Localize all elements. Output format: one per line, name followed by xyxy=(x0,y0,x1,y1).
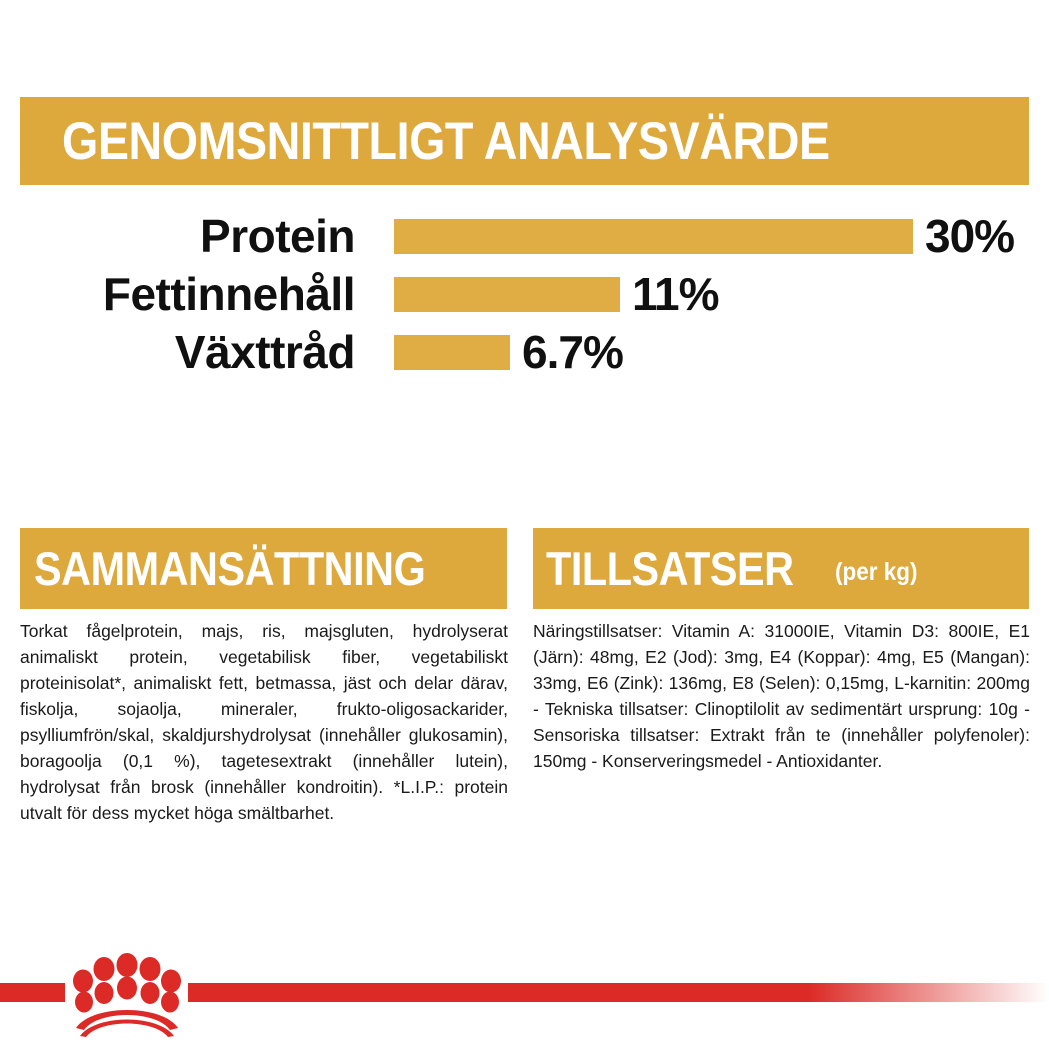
bar-fill-fat xyxy=(394,277,620,312)
red-band-left xyxy=(0,983,65,1002)
footer-brand-band xyxy=(0,975,1049,1005)
composition-banner-title: SAMMANSÄTTNING xyxy=(34,545,425,592)
bar-fill-protein xyxy=(394,219,913,254)
royal-canin-crown-icon xyxy=(66,950,188,1038)
chart-row-protein: Protein 30% xyxy=(0,207,1049,265)
analysis-banner: GENOMSNITTLIGT ANALYSVÄRDE xyxy=(20,97,1029,185)
bar-label-fibre: Växttråd xyxy=(175,323,355,381)
chart-row-fibre: Växttråd 6.7% xyxy=(0,323,1049,381)
bar-value-fibre: 6.7% xyxy=(522,329,623,375)
composition-banner: SAMMANSÄTTNING xyxy=(20,528,507,609)
nutrition-label-page: GENOMSNITTLIGT ANALYSVÄRDE Protein 30% F… xyxy=(0,0,1049,1049)
bar-track-protein: 30% xyxy=(394,207,1014,265)
additives-banner-title: TILLSATSER xyxy=(546,545,794,592)
average-analysis-chart: Protein 30% Fettinnehåll 11% Växttråd 6.… xyxy=(0,207,1049,402)
bar-label-fat: Fettinnehåll xyxy=(103,265,355,323)
bar-track-fat: 11% xyxy=(394,265,719,323)
bar-label-protein: Protein xyxy=(200,207,355,265)
composition-body-text: Torkat fågelprotein, majs, ris, majsglut… xyxy=(20,618,508,826)
analysis-banner-title: GENOMSNITTLIGT ANALYSVÄRDE xyxy=(62,115,830,168)
additives-body-text: Näringstillsatser: Vitamin A: 31000IE, V… xyxy=(533,618,1030,774)
bar-value-fat: 11% xyxy=(632,271,719,317)
bar-track-fibre: 6.7% xyxy=(394,323,623,381)
bar-fill-fibre xyxy=(394,335,510,370)
chart-row-fat: Fettinnehåll 11% xyxy=(0,265,1049,323)
additives-banner: TILLSATSER (per kg) xyxy=(533,528,1029,609)
red-band-right xyxy=(188,983,1049,1002)
bar-value-protein: 30% xyxy=(925,213,1014,259)
additives-banner-subtitle: (per kg) xyxy=(835,560,918,585)
